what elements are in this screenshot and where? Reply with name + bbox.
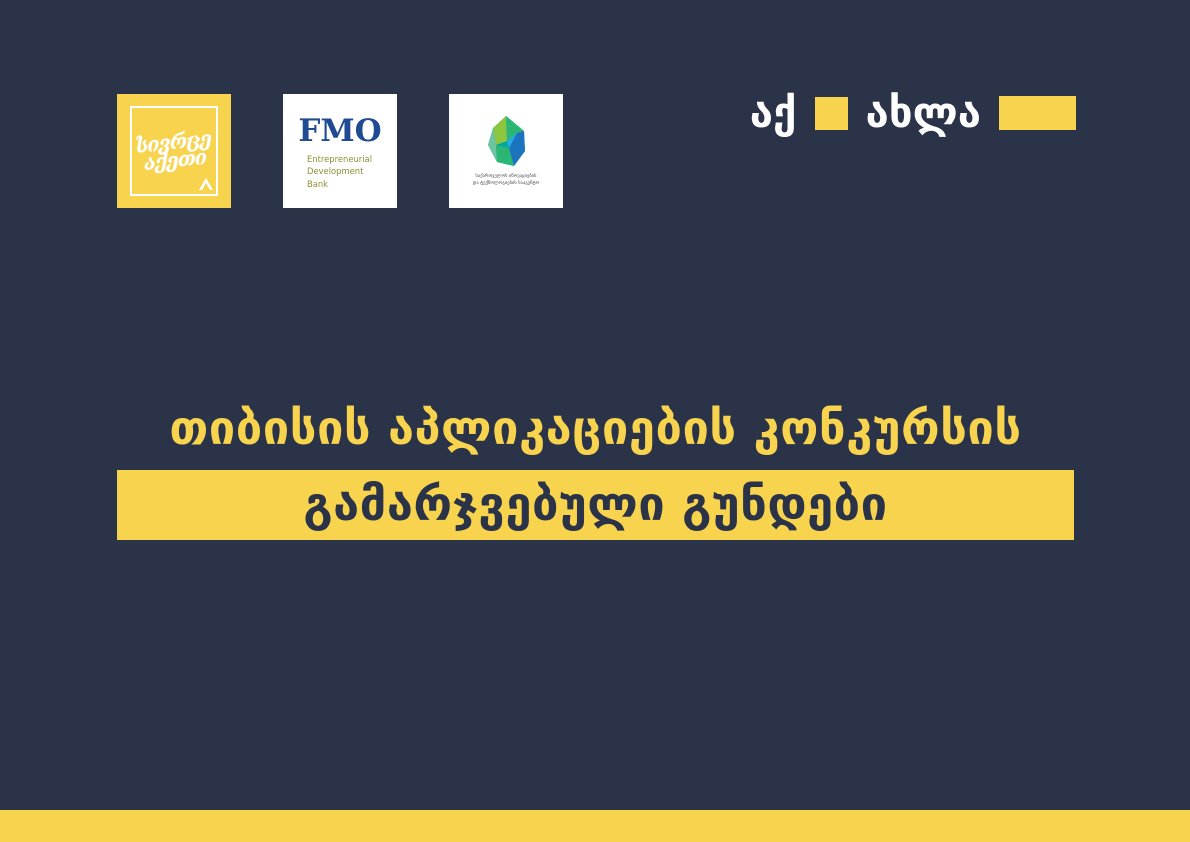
- tagline-block-small: [815, 97, 848, 130]
- footer-accent-strip: [0, 810, 1190, 842]
- promo-card: სივრცე აქეთი FMO Entrepreneurial Develop…: [0, 0, 1190, 842]
- title-line-one: თიბისის აპლიკაციების კონკურსის: [117, 400, 1074, 459]
- title-line-two: გამარჯვებული გუნდები: [303, 481, 887, 528]
- sponsor-logo-strip: სივრცე აქეთი FMO Entrepreneurial Develop…: [117, 94, 563, 208]
- tagline-word-now: ახლა: [866, 92, 982, 134]
- triangle-mark-icon: [199, 178, 213, 190]
- tagline-word-here: აქ: [750, 92, 797, 134]
- tbc-logo: სივრცე აქეთი: [117, 94, 231, 208]
- tbc-logo-script: სივრცე აქეთი: [134, 129, 213, 174]
- fmo-wordmark: FMO: [298, 116, 381, 147]
- title-block: თიბისის აპლიკაციების კონკურსის გამარჯვებ…: [117, 400, 1074, 540]
- fmo-subtitle: Entrepreneurial Development Bank: [307, 153, 373, 190]
- gem-icon: [483, 115, 529, 167]
- tagline-block-large: [999, 96, 1076, 130]
- title-highlight-band: გამარჯვებული გუნდები: [117, 470, 1074, 540]
- gita-logo: საქართველოს ინოვაციების და ტექნოლოგიების…: [449, 94, 563, 208]
- gita-caption: საქართველოს ინოვაციების და ტექნოლოგიების…: [458, 174, 554, 187]
- header-tagline: აქ ახლა: [750, 90, 1076, 136]
- fmo-logo: FMO Entrepreneurial Development Bank: [283, 94, 397, 208]
